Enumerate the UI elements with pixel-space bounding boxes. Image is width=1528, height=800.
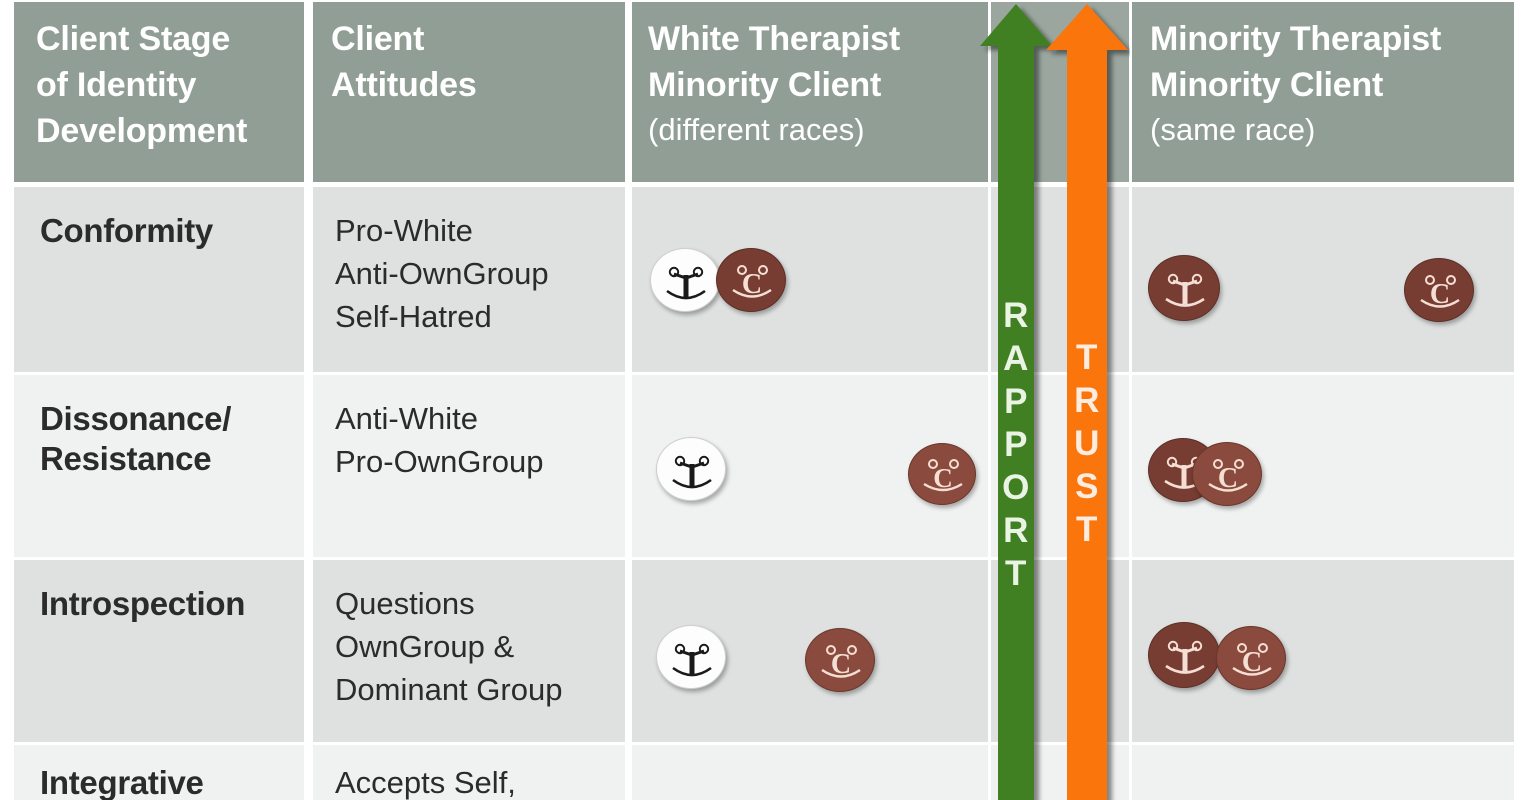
header-cell-stage: Client Stage of Identity Development xyxy=(14,2,304,182)
attitude-line: Pro-White xyxy=(335,209,625,252)
header-stage-line-1: Client Stage xyxy=(36,16,304,62)
header-minority-line-2: Minority Client xyxy=(1150,62,1514,108)
header-white-line-1: White Therapist xyxy=(648,16,988,62)
header-cell-attitudes: Client Attitudes xyxy=(313,2,625,182)
stage-label-line: Resistance xyxy=(40,439,304,479)
client-face-icon: C xyxy=(1192,442,1262,506)
header-minority-sub: (same race) xyxy=(1150,108,1514,152)
trust-letter: R xyxy=(1044,379,1130,422)
stage-label-dissonance: Dissonance/ Resistance xyxy=(14,375,304,479)
rapport-arrow-label: R A P P O R T xyxy=(978,294,1054,595)
therapist-face-icon xyxy=(1148,622,1220,688)
row-integrative-attitudes: Accepts Self, xyxy=(313,745,625,800)
rapport-letter: R xyxy=(978,509,1054,552)
rapport-letter: O xyxy=(978,466,1054,509)
client-face-icon: C xyxy=(1404,258,1474,322)
trust-letter: T xyxy=(1044,508,1130,551)
row-introspection-attitudes: Questions OwnGroup & Dominant Group xyxy=(313,560,625,742)
trust-letter: T xyxy=(1044,336,1130,379)
header-cell-minority-therapist: Minority Therapist Minority Client (same… xyxy=(1132,2,1514,182)
header-minority-line-1: Minority Therapist xyxy=(1150,16,1514,62)
rapport-letter: T xyxy=(978,552,1054,595)
header-stage-line-3: Development xyxy=(36,108,304,154)
row-dissonance-stage: Dissonance/ Resistance xyxy=(14,375,304,557)
header-attitudes-line-1: Client xyxy=(331,16,625,62)
header-white-line-2: Minority Client xyxy=(648,62,988,108)
attitude-line: Self-Hatred xyxy=(335,295,625,338)
row-introspection-stage: Introspection xyxy=(14,560,304,742)
therapist-face-icon xyxy=(656,625,726,689)
attitude-line: Accepts Self, xyxy=(335,761,625,800)
therapist-face-icon xyxy=(1148,255,1220,321)
row-conformity-stage: Conformity xyxy=(14,187,304,372)
header-attitudes-line-2: Attitudes xyxy=(331,62,625,108)
header-cell-white-therapist: White Therapist Minority Client (differe… xyxy=(632,2,988,182)
rapport-letter: P xyxy=(978,380,1054,423)
row-integrative-minority-column xyxy=(1132,745,1514,800)
attitude-line: Questions xyxy=(335,582,625,625)
rapport-arrow: R A P P O R T xyxy=(978,2,1054,800)
row-integrative-stage: Integrative xyxy=(14,745,304,800)
attitude-line: Pro-OwnGroup xyxy=(335,440,625,483)
trust-letter: S xyxy=(1044,465,1130,508)
rapport-letter: A xyxy=(978,337,1054,380)
client-face-icon: C xyxy=(908,443,976,505)
header-white-sub: (different races) xyxy=(648,108,988,152)
client-face-icon: C xyxy=(1216,626,1286,690)
stage-label-line: Dissonance/ xyxy=(40,399,304,439)
client-face-icon: C xyxy=(716,248,786,312)
attitude-line: Anti-OwnGroup xyxy=(335,252,625,295)
trust-letter: U xyxy=(1044,422,1130,465)
stage-label-integrative: Integrative xyxy=(14,745,304,800)
header-stage-line-2: of Identity xyxy=(36,62,304,108)
row-conformity-attitudes: Pro-White Anti-OwnGroup Self-Hatred xyxy=(313,187,625,372)
stage-label-conformity: Conformity xyxy=(14,187,304,251)
attitude-line: Anti-White xyxy=(335,397,625,440)
stage-label-introspection: Introspection xyxy=(14,560,304,624)
therapist-face-icon xyxy=(656,437,726,501)
row-integrative-white-column xyxy=(632,745,988,800)
therapist-face-icon xyxy=(650,248,720,312)
trust-arrow: T R U S T xyxy=(1044,2,1130,800)
attitude-line: OwnGroup & xyxy=(335,625,625,668)
attitude-line: Dominant Group xyxy=(335,668,625,711)
rapport-letter: P xyxy=(978,423,1054,466)
rapport-letter: R xyxy=(978,294,1054,337)
client-face-icon: C xyxy=(805,628,875,692)
trust-arrow-label: T R U S T xyxy=(1044,336,1130,551)
row-dissonance-attitudes: Anti-White Pro-OwnGroup xyxy=(313,375,625,557)
identity-development-matrix: Client Stage of Identity Development Cli… xyxy=(0,0,1528,800)
